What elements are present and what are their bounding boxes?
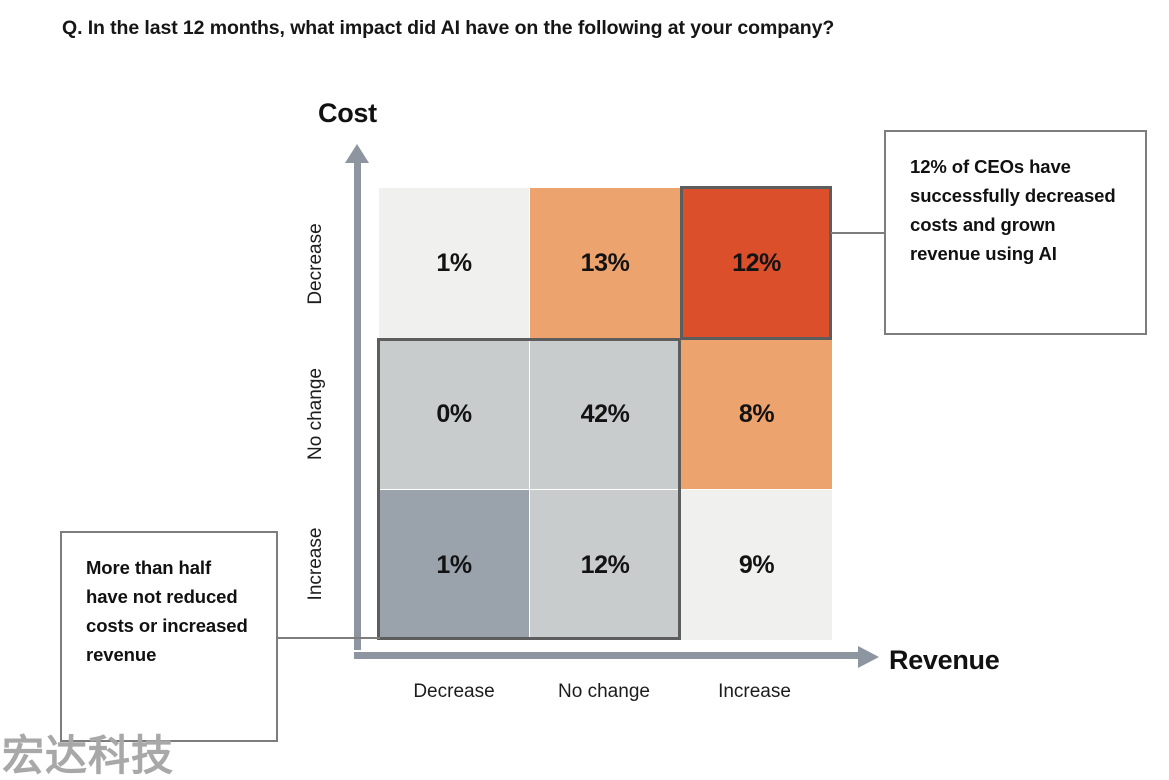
- matrix-cell[interactable]: 0%: [379, 339, 529, 489]
- callout-right: 12% of CEOs have successfully decreased …: [884, 130, 1147, 335]
- x-tick-label: Increase: [679, 681, 830, 703]
- page-title: Q. In the last 12 months, what impact di…: [62, 15, 1122, 41]
- y-axis-title: Cost: [318, 98, 377, 129]
- matrix-cell[interactable]: 12%: [530, 490, 680, 640]
- x-tick-label: No change: [529, 681, 679, 703]
- y-tick-label: No change: [305, 339, 327, 489]
- x-axis-arrow-icon: [858, 646, 879, 668]
- matrix-cell[interactable]: 12%: [681, 188, 832, 338]
- callout-connector-left: [277, 637, 380, 639]
- x-axis-title: Revenue: [889, 645, 999, 676]
- x-tick-label: Decrease: [379, 681, 529, 703]
- impact-matrix: 1% 13% 12% 0% 42% 8% 1% 12% 9%: [379, 188, 830, 638]
- matrix-cell[interactable]: 13%: [530, 188, 680, 338]
- callout-connector-right: [831, 232, 885, 234]
- matrix-cell[interactable]: 8%: [681, 339, 832, 489]
- matrix-cell[interactable]: 1%: [379, 188, 529, 338]
- y-axis-arrow-icon: [345, 144, 369, 163]
- y-tick-label: Increase: [305, 489, 327, 639]
- watermark: 宏达科技: [2, 733, 174, 779]
- x-axis-line: [354, 652, 862, 659]
- callout-left: More than half have not reduced costs or…: [60, 531, 278, 742]
- y-tick-label: Decrease: [305, 189, 327, 339]
- matrix-cell[interactable]: 9%: [681, 490, 832, 640]
- matrix-cell[interactable]: 42%: [530, 339, 680, 489]
- x-axis-tick-labels: Decrease No change Increase: [379, 681, 830, 703]
- matrix-cell[interactable]: 1%: [379, 490, 529, 640]
